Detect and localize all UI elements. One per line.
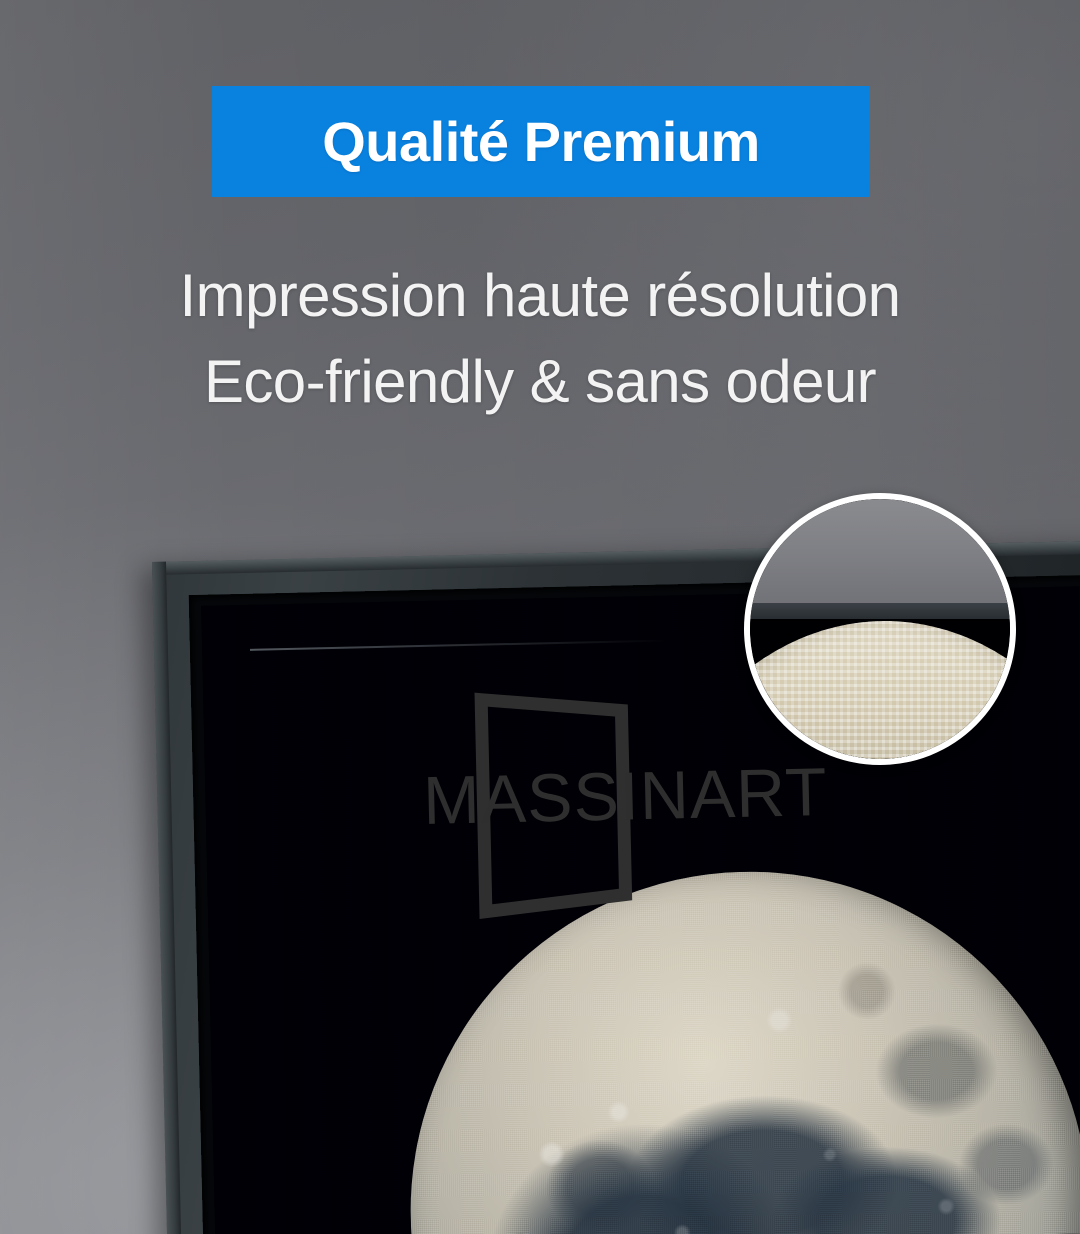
moon-ray-system (403, 864, 1080, 1234)
frame-left-bevel (152, 562, 181, 1234)
subheadline-line-1: Impression haute résolution (0, 253, 1080, 339)
subheadline: Impression haute résolution Eco-friendly… (0, 253, 1080, 426)
product-promo-image: MASSINART Qualité Premium Impression hau… (0, 0, 1080, 1234)
premium-quality-badge-label: Qualité Premium (322, 114, 760, 170)
detail-wall-band (750, 499, 1010, 613)
detail-zoom-inset (744, 493, 1016, 765)
subheadline-line-2: Eco-friendly & sans odeur (0, 339, 1080, 425)
moon-craters (403, 864, 1080, 1234)
detail-zoom-content (750, 499, 1010, 759)
moon-disc (403, 864, 1080, 1234)
premium-quality-badge: Qualité Premium (212, 86, 870, 197)
